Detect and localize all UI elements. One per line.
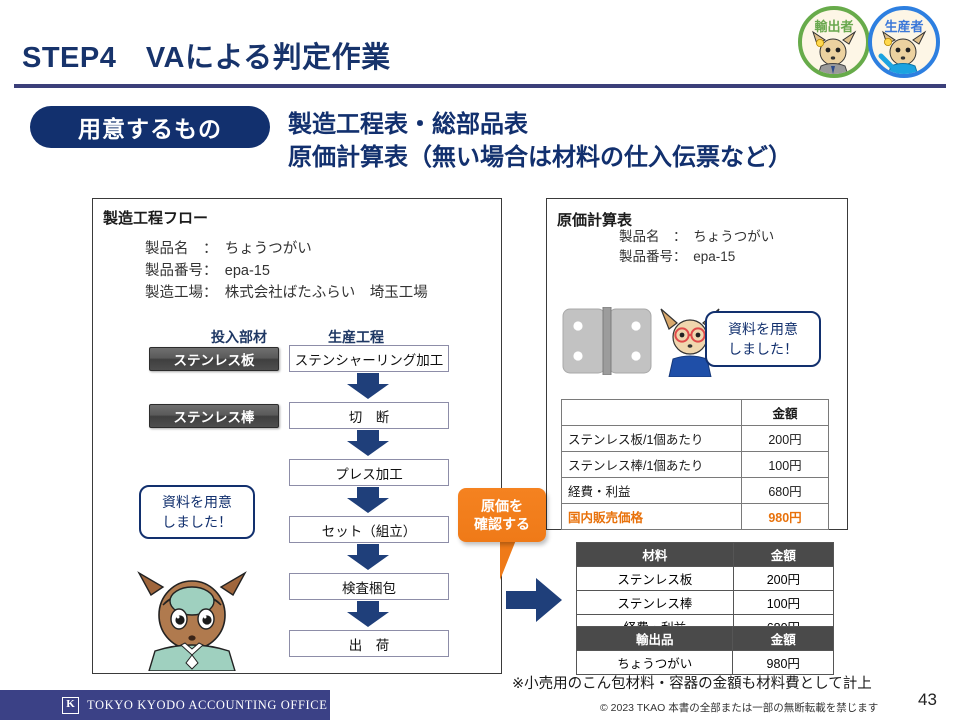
cost-sheet-meta: 製品名 ： ちょうつがい 製品番号： epa-15 [619,227,774,268]
product-meta-line-3: 製造工場： 株式会社ばたふらい 埼玉工場 [145,283,428,305]
flow-arrow-down-icon [347,487,389,513]
worker-speech-bubble: 資料を用意 しました！ [139,485,255,539]
footnote: ※小売用のこん包材料・容器の金額も材料費として計上 [512,672,872,693]
material-header-name: 材料 [577,543,734,567]
export-summary-table: 輸出品 金額 ちょうつがい 980円 [576,626,834,675]
flow-arrow-down-icon [347,373,389,399]
flow-arrow-down-icon [347,430,389,456]
cost-row-amount: 680円 [742,478,829,504]
cost-row-label: ステンレス棒/1個あたり [562,452,742,478]
footer-logo-bar: K TOKYO KYODO ACCOUNTING OFFICE [0,690,330,720]
prepare-pill: 用意するもの [30,106,270,148]
subheading: 製造工程表・総部品表 原価計算表（無い場合は材料の仕入伝票など） [288,108,792,174]
badge-exporter-label: 輸出者 [802,16,866,35]
product-meta-line-2: 製品番号： epa-15 [145,261,428,283]
product-meta: 製品名 ： ちょうつがい 製品番号： epa-15 製造工場： 株式会社ばたふら… [145,239,428,304]
copyright-text: © 2023 TKAO 本書の全部または一部の無断転載を禁じます [600,700,878,715]
company-logo-icon: K [62,697,79,714]
manufacturing-flow-panel: 製造工程フロー 製品名 ： ちょうつがい 製品番号： epa-15 製造工場： … [92,198,502,674]
cost-row-amount: 100円 [742,452,829,478]
cost-row-label: 経費・利益 [562,478,742,504]
column-header-process: 生産工程 [328,327,384,347]
process-box: 検査梱包 [289,573,449,600]
cost-sheet-meta-line-1: 製品名 ： ちょうつがい [619,227,774,247]
table-row: 材料 金額 [577,543,834,567]
badge-exporter: 輸出者 [798,6,870,78]
hinge-product-image [561,307,653,375]
material-row-name: ステンレス棒 [577,591,734,615]
cost-header-blank [562,400,742,426]
cost-row-amount-total: 980円 [742,504,829,530]
table-row: ステンレス板 200円 [577,567,834,591]
process-box: 切 断 [289,402,449,429]
process-box: 出 荷 [289,630,449,657]
table-row: 経費・利益 680円 [562,478,829,504]
deer-producer-icon [875,30,933,78]
slide-root: STEP4 VAによる判定作業 輸出者 生産者 用意するもの [0,0,960,720]
page-title: STEP4 VAによる判定作業 [22,34,391,76]
export-row-name: ちょうつがい [577,651,733,675]
material-chip-bar: ステンレス棒 [149,404,279,428]
worker-character-icon [129,539,257,671]
manufacturing-flow-title: 製造工程フロー [103,207,208,228]
cost-row-amount: 200円 [742,426,829,452]
cost-row-label-total: 国内販売価格 [562,504,742,530]
process-box: プレス加工 [289,459,449,486]
table-row: 輸出品 金額 [577,627,834,651]
table-row: 金額 [562,400,829,426]
material-summary-table: 材料 金額 ステンレス板 200円 ステンレス棒 100円 経費・利益 680円 [576,542,834,639]
callout-tail [500,540,520,580]
page-number: 43 [918,690,937,710]
process-box: ステンシャーリング加工 [289,345,449,372]
badge-producer-label: 生産者 [872,16,936,35]
cost-calculation-table: 金額 ステンレス板/1個あたり 200円 ステンレス棒/1個あたり 100円 経… [561,399,829,530]
material-row-amount: 100円 [733,591,833,615]
cost-row-label: ステンレス板/1個あたり [562,426,742,452]
check-cost-callout: 原価を 確認する [458,488,546,542]
subheading-line-2: 原価計算表（無い場合は材料の仕入伝票など） [288,141,792,174]
title-divider [14,84,946,88]
table-row: ステンレス板/1個あたり 200円 [562,426,829,452]
export-header-amount: 金額 [733,627,834,651]
table-row: ちょうつがい 980円 [577,651,834,675]
cost-sheet-panel: 原価計算表 製品名 ： ちょうつがい 製品番号： epa-15 資料を用意 しま… [546,198,848,530]
flow-arrow-down-icon [347,544,389,570]
company-name: TOKYO KYODO ACCOUNTING OFFICE [87,698,327,713]
flow-arrow-down-icon [347,601,389,627]
table-row: 国内販売価格 980円 [562,504,829,530]
big-right-arrow-icon [506,578,562,622]
deer-exporter-icon [805,30,863,78]
material-header-amount: 金額 [733,543,833,567]
prepare-pill-label: 用意するもの [78,110,222,144]
material-row-amount: 200円 [733,567,833,591]
process-box: セット（組立） [289,516,449,543]
column-header-parts: 投入部材 [211,327,267,347]
subheading-line-1: 製造工程表・総部品表 [288,108,792,141]
badge-producer: 生産者 [868,6,940,78]
cost-sheet-speech-bubble: 資料を用意 しました！ [705,311,821,367]
product-meta-line-1: 製品名 ： ちょうつがい [145,239,428,261]
export-header-name: 輸出品 [577,627,733,651]
export-row-amount: 980円 [733,651,834,675]
material-chip-plate: ステンレス板 [149,347,279,371]
table-row: ステンレス棒 100円 [577,591,834,615]
table-row: ステンレス棒/1個あたり 100円 [562,452,829,478]
cost-header-amount: 金額 [742,400,829,426]
material-row-name: ステンレス板 [577,567,734,591]
cost-sheet-meta-line-2: 製品番号： epa-15 [619,247,774,267]
